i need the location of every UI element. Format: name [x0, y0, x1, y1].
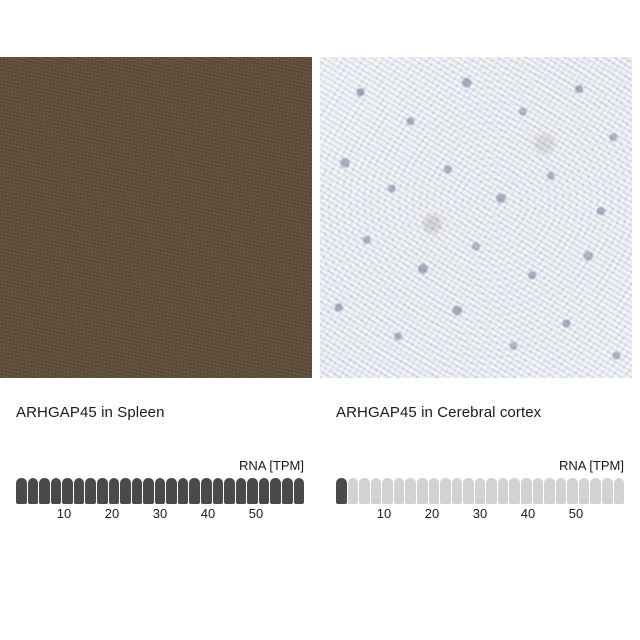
rna-bar-segment — [270, 478, 281, 504]
rna-bar-segment — [143, 478, 154, 504]
rna-axis-tick-40: 40 — [201, 506, 215, 521]
rna-axis-tick-20: 20 — [105, 506, 119, 521]
rna-bar-segment — [282, 478, 293, 504]
rna-bar-segment — [602, 478, 613, 504]
rna-bar-segment — [382, 478, 393, 504]
cerebral-cortex-rna-unit-label: RNA [TPM] — [336, 458, 624, 474]
rna-axis-tick-40: 40 — [521, 506, 535, 521]
rna-bar-segment — [486, 478, 497, 504]
cerebral-cortex-caption: ARHGAP45 in Cerebral cortex — [336, 404, 541, 421]
rna-bar-segment — [533, 478, 544, 504]
rna-bar-segment — [85, 478, 96, 504]
spleen-caption: ARHGAP45 in Spleen — [16, 404, 165, 421]
cerebral-cortex-rna-gauge: RNA [TPM] 1020304050 — [336, 458, 624, 524]
rna-axis-tick-20: 20 — [425, 506, 439, 521]
rna-bar-segment — [97, 478, 108, 504]
rna-axis-tick-30: 30 — [153, 506, 167, 521]
rna-bar-segment — [498, 478, 509, 504]
rna-bar-segment — [178, 478, 189, 504]
rna-axis-tick-10: 10 — [57, 506, 71, 521]
rna-bar-segment — [509, 478, 520, 504]
rna-bar-segment — [579, 478, 590, 504]
spleen-rna-gauge: RNA [TPM] 1020304050 — [16, 458, 304, 524]
rna-axis-tick-50: 50 — [249, 506, 263, 521]
rna-bar-segment — [405, 478, 416, 504]
rna-axis-tick-50: 50 — [569, 506, 583, 521]
rna-bar-segment — [348, 478, 359, 504]
rna-bar-segment — [120, 478, 131, 504]
spleen-rna-bar[interactable] — [16, 478, 304, 504]
rna-bar-segment — [236, 478, 247, 504]
spleen-rna-unit-label: RNA [TPM] — [16, 458, 304, 474]
rna-bar-segment — [359, 478, 370, 504]
rna-bar-segment — [556, 478, 567, 504]
rna-bar-segment — [132, 478, 143, 504]
rna-bar-segment — [28, 478, 39, 504]
rna-bar-segment — [371, 478, 382, 504]
rna-bar-segment — [544, 478, 555, 504]
rna-bar-segment — [294, 478, 305, 504]
rna-bar-segment — [429, 478, 440, 504]
rna-bar-segment — [590, 478, 601, 504]
rna-bar-segment — [417, 478, 428, 504]
rna-bar-segment — [336, 478, 347, 504]
rna-bar-segment — [16, 478, 27, 504]
rna-bar-segment — [224, 478, 235, 504]
rna-bar-segment — [247, 478, 258, 504]
rna-bar-segment — [51, 478, 62, 504]
cerebral-cortex-micrograph-image[interactable] — [320, 57, 632, 378]
rna-bar-segment — [109, 478, 120, 504]
cerebral-cortex-rna-axis: 1020304050 — [336, 506, 624, 524]
rna-bar-segment — [166, 478, 177, 504]
rna-bar-segment — [201, 478, 212, 504]
rna-bar-segment — [614, 478, 625, 504]
rna-bar-segment — [213, 478, 224, 504]
rna-bar-segment — [567, 478, 578, 504]
rna-bar-segment — [39, 478, 50, 504]
rna-axis-tick-10: 10 — [377, 506, 391, 521]
rna-bar-segment — [521, 478, 532, 504]
spleen-rna-axis: 1020304050 — [16, 506, 304, 524]
rna-bar-segment — [394, 478, 405, 504]
rna-bar-segment — [475, 478, 486, 504]
rna-bar-segment — [440, 478, 451, 504]
ihc-comparison-page: ARHGAP45 in Spleen RNA [TPM] 1020304050 … — [0, 0, 640, 640]
rna-axis-tick-30: 30 — [473, 506, 487, 521]
spleen-micrograph-image[interactable] — [0, 57, 312, 378]
rna-bar-segment — [259, 478, 270, 504]
rna-bar-segment — [62, 478, 73, 504]
rna-bar-segment — [189, 478, 200, 504]
rna-bar-segment — [155, 478, 166, 504]
rna-bar-segment — [463, 478, 474, 504]
cerebral-cortex-rna-bar[interactable] — [336, 478, 624, 504]
rna-bar-segment — [74, 478, 85, 504]
rna-bar-segment — [452, 478, 463, 504]
